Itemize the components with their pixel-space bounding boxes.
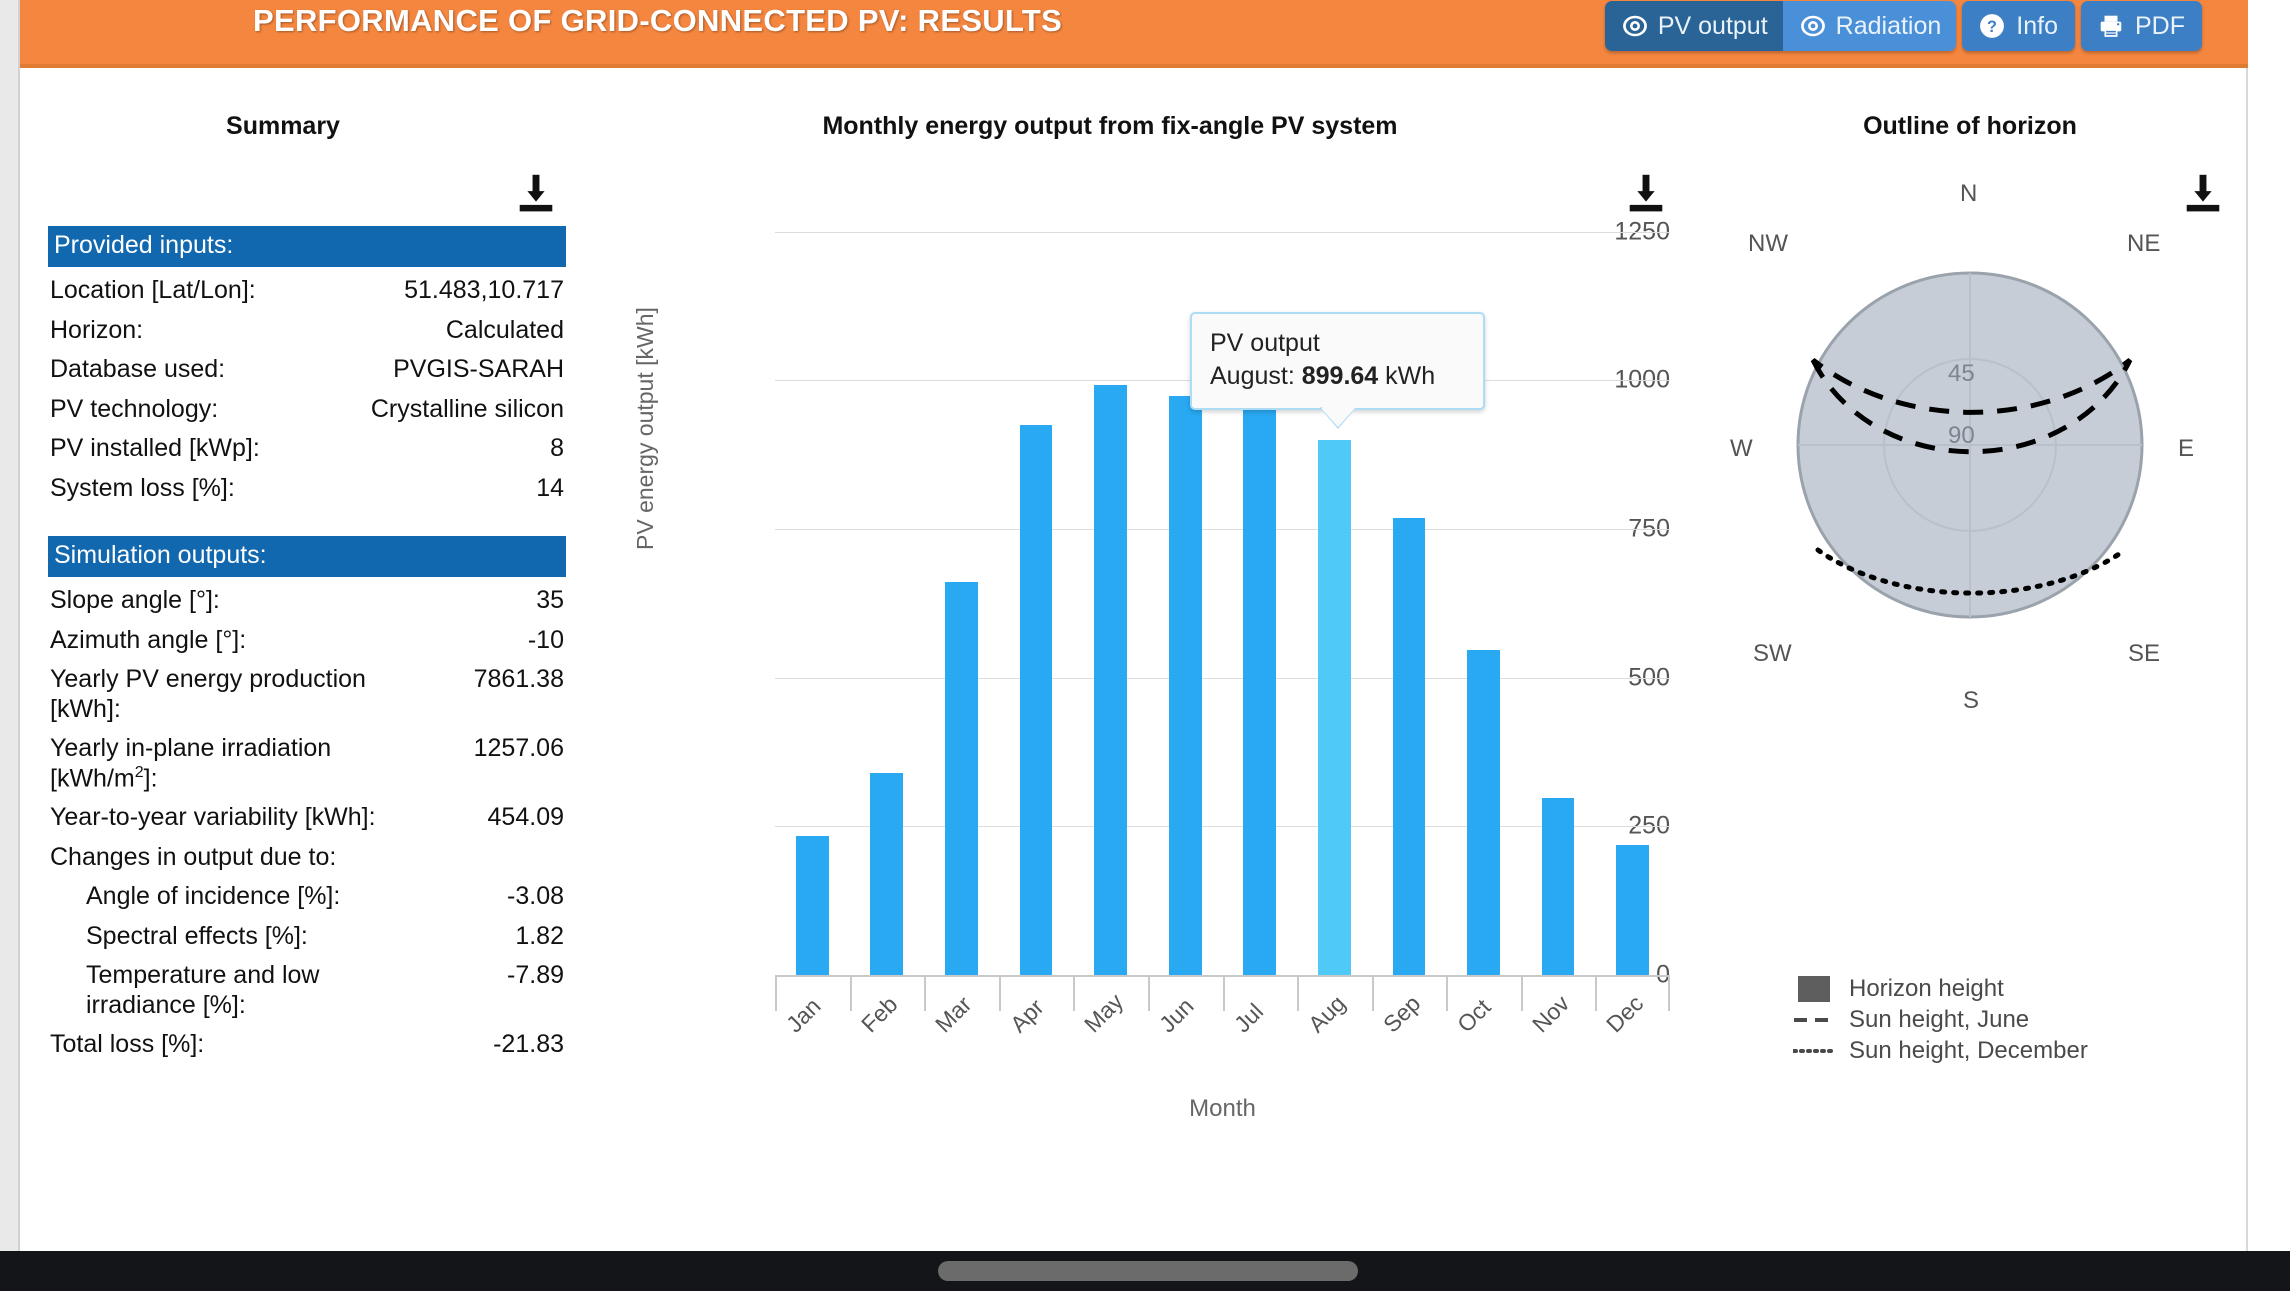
horizon-height-swatch-icon: [1793, 976, 1835, 1002]
download-icon[interactable]: [513, 170, 559, 216]
row-key: PV technology:: [50, 395, 218, 425]
row-key: Spectral effects [%]:: [50, 922, 308, 952]
eye-icon: [1800, 13, 1826, 39]
row-key: Changes in output due to:: [50, 843, 336, 873]
question-circle-icon: ?: [1979, 13, 2005, 39]
bar-cell[interactable]: [1521, 190, 1596, 975]
table-row: Angle of incidence [%]: -3.08: [48, 877, 566, 917]
legend-item: Sun height, June: [1793, 1006, 2213, 1034]
horizon-diagram: N NE E SE S SW W NW 45 90: [1700, 160, 2240, 860]
row-value: 51.483,10.717: [404, 276, 564, 306]
row-value: 1.82: [515, 922, 564, 952]
bar-cell[interactable]: [1446, 190, 1521, 975]
y-axis-label: PV energy output [kWh]: [632, 307, 659, 550]
bar[interactable]: [1467, 650, 1500, 975]
table-row: Spectral effects [%]: 1.82: [48, 917, 566, 957]
bar[interactable]: [796, 836, 829, 975]
right-gutter-divider: [2246, 0, 2248, 1251]
row-value: Crystalline silicon: [371, 395, 564, 425]
provided-inputs-header: Provided inputs:: [48, 226, 566, 267]
left-gutter: [0, 0, 18, 1251]
table-row: System loss [%]: 14: [48, 469, 566, 509]
compass-label-n: N: [1960, 180, 1977, 208]
compass-label-e: E: [2178, 435, 2194, 463]
dotted-line-icon: [1793, 1038, 1835, 1064]
tooltip-value-line: August: 899.64 kWh: [1210, 362, 1465, 391]
legend-item: Horizon height: [1793, 975, 2213, 1003]
compass-label-s: S: [1963, 687, 1979, 715]
bar[interactable]: [1243, 402, 1276, 975]
page-title: PERFORMANCE OF GRID-CONNECTED PV: RESULT…: [253, 3, 1062, 39]
legend-label: Sun height, December: [1849, 1037, 2088, 1065]
pdf-label: PDF: [2135, 12, 2185, 41]
horizon-section-title: Outline of horizon: [1700, 112, 2240, 141]
table-row: Yearly PV energy production [kWh]: 7861.…: [48, 660, 566, 729]
bar[interactable]: [1318, 440, 1351, 975]
row-value: -21.83: [493, 1030, 564, 1060]
tooltip-value: 899.64: [1302, 362, 1378, 390]
tooltip-month: August:: [1210, 362, 1295, 390]
view-toggle-group: PV output Radiation: [1605, 1, 1956, 51]
summary-table: Provided inputs: Location [Lat/Lon]: 51.…: [48, 226, 566, 1065]
printer-icon: [2098, 13, 2124, 39]
tooltip-series-name: PV output: [1210, 329, 1465, 358]
table-row: Total loss [%]: -21.83: [48, 1025, 566, 1065]
compass-label-sw: SW: [1753, 640, 1792, 668]
radiation-label: Radiation: [1836, 12, 1942, 41]
compass-label-nw: NW: [1748, 230, 1788, 258]
compass-label-w: W: [1730, 435, 1753, 463]
row-key: Year-to-year variability [kWh]:: [50, 803, 376, 833]
row-value: 1257.06: [474, 734, 564, 764]
bar[interactable]: [1616, 845, 1649, 975]
dashed-line-icon: [1793, 1007, 1835, 1033]
row-key: Total loss [%]:: [50, 1030, 204, 1060]
pv-output-button[interactable]: PV output: [1605, 1, 1783, 51]
table-row: Slope angle [°]: 35: [48, 581, 566, 621]
bar-cell[interactable]: [1372, 190, 1447, 975]
row-value: 35: [536, 586, 564, 616]
info-label: Info: [2016, 12, 2058, 41]
bar-cell[interactable]: [1148, 190, 1223, 975]
bar-cell[interactable]: [1297, 190, 1372, 975]
chart-plot-area: [775, 190, 1670, 975]
row-key: Yearly PV energy production [kWh]:: [50, 665, 390, 724]
info-button[interactable]: ? Info: [1962, 1, 2075, 51]
section-spacer: [48, 508, 566, 536]
app-header: PERFORMANCE OF GRID-CONNECTED PV: RESULT…: [20, 0, 2248, 66]
bar-cell[interactable]: [924, 190, 999, 975]
table-row: Database used: PVGIS-SARAH: [48, 350, 566, 390]
left-gutter-divider: [18, 0, 20, 1251]
pv-output-label: PV output: [1658, 12, 1768, 41]
right-gutter: [2248, 0, 2290, 1251]
table-row: PV installed [kWp]: 8: [48, 429, 566, 469]
table-row: Changes in output due to:: [48, 838, 566, 878]
header-button-group: PV output Radiation: [1605, 1, 2202, 51]
eye-icon: [1622, 13, 1648, 39]
table-row: Horizon: Calculated: [48, 311, 566, 351]
bar[interactable]: [1169, 396, 1202, 975]
row-key: Database used:: [50, 355, 225, 385]
bar[interactable]: [870, 773, 903, 975]
x-axis-label: Month: [775, 1095, 1670, 1123]
row-key: Slope angle [°]:: [50, 586, 220, 616]
row-value: -3.08: [507, 882, 564, 912]
bar-cell[interactable]: [775, 190, 850, 975]
ring-label-90: 90: [1948, 422, 1975, 450]
bar-cell[interactable]: [1073, 190, 1148, 975]
bar[interactable]: [1542, 798, 1575, 975]
row-value: 454.09: [488, 803, 564, 833]
bar[interactable]: [1020, 425, 1053, 975]
horizon-legend: Horizon height Sun height, June Sun heig…: [1793, 975, 2213, 1068]
compass-label-ne: NE: [2127, 230, 2160, 258]
bar[interactable]: [1094, 385, 1127, 975]
page-root: PERFORMANCE OF GRID-CONNECTED PV: RESULT…: [0, 0, 2290, 1291]
radiation-button[interactable]: Radiation: [1783, 1, 1957, 51]
legend-item: Sun height, December: [1793, 1037, 2213, 1065]
row-key: PV installed [kWp]:: [50, 434, 260, 464]
legend-label: Horizon height: [1849, 975, 2004, 1003]
compass-label-se: SE: [2128, 640, 2160, 668]
pdf-button[interactable]: PDF: [2081, 1, 2202, 51]
table-row: Yearly in-plane irradiation [kWh/m2]: 12…: [48, 729, 566, 798]
row-key: Azimuth angle [°]:: [50, 626, 246, 656]
row-key: Location [Lat/Lon]:: [50, 276, 256, 306]
row-value: -10: [528, 626, 564, 656]
row-key: Horizon:: [50, 316, 143, 346]
simulation-outputs-header: Simulation outputs:: [48, 536, 566, 577]
table-row: PV technology: Crystalline silicon: [48, 390, 566, 430]
row-value: 8: [550, 434, 564, 464]
chart-section-title: Monthly energy output from fix-angle PV …: [710, 112, 1510, 141]
tooltip-unit: kWh: [1385, 362, 1435, 390]
x-axis-tick: [1223, 977, 1298, 1011]
row-value: 14: [536, 474, 564, 504]
row-value: Calculated: [446, 316, 564, 346]
legend-label: Sun height, June: [1849, 1006, 2029, 1034]
svg-text:?: ?: [1987, 18, 1997, 36]
bar[interactable]: [1393, 518, 1426, 975]
summary-section-title: Summary: [48, 112, 518, 141]
row-key: Angle of incidence [%]:: [50, 882, 340, 912]
horizontal-scrollbar[interactable]: [938, 1261, 1358, 1281]
chart-tooltip: PV output August: 899.64 kWh: [1190, 312, 1485, 410]
row-value: 7861.38: [474, 665, 564, 695]
bar-cell[interactable]: [1222, 190, 1297, 975]
table-row: Azimuth angle [°]: -10: [48, 621, 566, 661]
bar-cell[interactable]: [850, 190, 925, 975]
bar-series: [775, 190, 1670, 975]
table-row: Location [Lat/Lon]: 51.483,10.717: [48, 271, 566, 311]
header-underline: [20, 64, 2248, 68]
x-axis: [775, 975, 1670, 1009]
bar[interactable]: [945, 582, 978, 975]
row-value: PVGIS-SARAH: [393, 355, 564, 385]
table-row: Year-to-year variability [kWh]: 454.09: [48, 798, 566, 838]
row-key: System loss [%]:: [50, 474, 235, 504]
row-value: -7.89: [507, 961, 564, 991]
row-key: Temperature and low irradiance [%]:: [50, 961, 350, 1020]
bar-cell[interactable]: [999, 190, 1074, 975]
ring-label-45: 45: [1948, 360, 1975, 388]
bar-cell[interactable]: [1595, 190, 1670, 975]
monthly-output-chart: PV energy output [kWh] 02505007501000125…: [640, 190, 1670, 1010]
bottom-bar: [0, 1251, 2290, 1291]
table-row: Temperature and low irradiance [%]: -7.8…: [48, 956, 566, 1025]
row-key: Yearly in-plane irradiation [kWh/m2]:: [50, 734, 390, 793]
